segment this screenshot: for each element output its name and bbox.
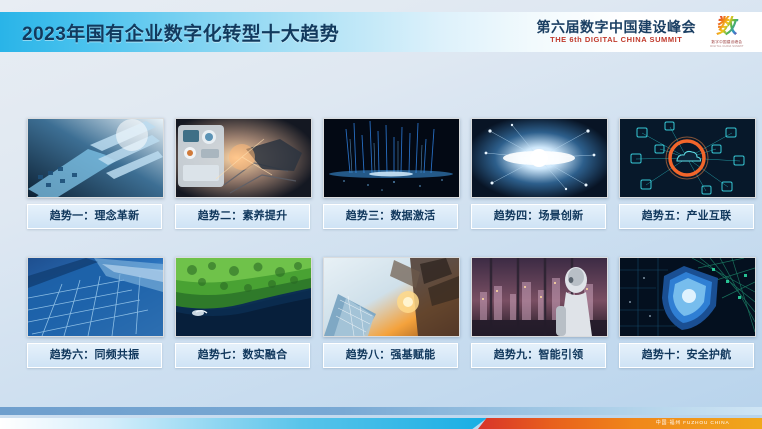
- summit-title-cn: 第六届数字中国建设峰会: [537, 20, 697, 35]
- forest-river-aerial-image: [175, 257, 312, 337]
- trend-label: 趋势十：安全护航: [619, 343, 754, 368]
- trend-card[interactable]: 趋势四：场景创新: [471, 118, 606, 229]
- footer-orange-bar: 中国·福州 FUZHOU CHINA: [478, 418, 762, 429]
- logo-caption-cn: 数字中国建设峰会: [712, 39, 743, 45]
- trend-card[interactable]: 趋势八：强基赋能: [323, 257, 458, 368]
- trend-card[interactable]: 趋势五：产业互联: [619, 118, 754, 229]
- trend-label: 趋势九：智能引领: [471, 343, 606, 368]
- solar-panels-image: [27, 257, 164, 337]
- skyscraper-sunset-image: [323, 257, 460, 337]
- cloud-industrial-network-image: [619, 118, 756, 198]
- trend-card[interactable]: 趋势三：数据激活: [323, 118, 458, 229]
- trend-label: 趋势八：强基赋能: [323, 343, 458, 368]
- trend-label: 趋势一：理念革新: [27, 204, 162, 229]
- trend-grid: 趋势一：理念革新 趋势二：素养提升: [27, 118, 737, 368]
- presentation-slide: 2023年国有企业数字化转型十大趋势 第六届数字中国建设峰会 THE 6th D…: [0, 0, 762, 429]
- trend-card[interactable]: 趋势九：智能引领: [471, 257, 606, 368]
- footer-blue-bar: [0, 418, 487, 429]
- summit-logo-icon: 数 数字中国建设峰会 DIGITAL CHINA SUMMIT: [704, 13, 750, 51]
- logo-glyph: 数: [715, 16, 739, 37]
- trend-label: 趋势六：同频共振: [27, 343, 162, 368]
- slide-header: 2023年国有企业数字化转型十大趋势 第六届数字中国建设峰会 THE 6th D…: [0, 12, 762, 52]
- logo-caption-en: DIGITAL CHINA SUMMIT: [710, 45, 743, 48]
- page-title: 2023年国有企业数字化转型十大趋势: [22, 19, 339, 46]
- trend-row: 趋势一：理念革新 趋势二：素养提升: [27, 118, 737, 229]
- footer-location-label: 中国·福州 FUZHOU CHINA: [656, 420, 730, 427]
- trend-card[interactable]: 趋势七：数实融合: [175, 257, 310, 368]
- trend-label: 趋势五：产业互联: [619, 204, 754, 229]
- robot-city-window-image: [471, 257, 608, 337]
- trend-card[interactable]: 趋势六：同频共振: [27, 257, 162, 368]
- trend-label: 趋势七：数实融合: [175, 343, 310, 368]
- slide-footer: 中国·福州 FUZHOU CHINA: [0, 407, 762, 429]
- robot-hands-control-panel-image: [175, 118, 312, 198]
- summit-text-block: 第六届数字中国建设峰会 THE 6th DIGITAL CHINA SUMMIT: [537, 20, 697, 44]
- trend-row: 趋势六：同频共振 趋势七：数实融合: [27, 257, 737, 368]
- trend-label: 趋势三：数据激活: [323, 204, 458, 229]
- summit-branding: 第六届数字中国建设峰会 THE 6th DIGITAL CHINA SUMMIT…: [537, 13, 751, 51]
- trend-card[interactable]: 趋势二：素养提升: [175, 118, 310, 229]
- trend-card[interactable]: 趋势一：理念革新: [27, 118, 162, 229]
- light-burst-network-image: [471, 118, 608, 198]
- trend-card[interactable]: 趋势十：安全护航: [619, 257, 754, 368]
- blue-data-streams-image: [323, 118, 460, 198]
- trend-label: 趋势二：素养提升: [175, 204, 310, 229]
- trend-label: 趋势四：场景创新: [471, 204, 606, 229]
- footer-divider: [0, 407, 762, 415]
- blue-keyboard-dna-image: [27, 118, 164, 198]
- summit-title-en: THE 6th DIGITAL CHINA SUMMIT: [537, 36, 697, 44]
- blue-shield-circuit-image: [619, 257, 756, 337]
